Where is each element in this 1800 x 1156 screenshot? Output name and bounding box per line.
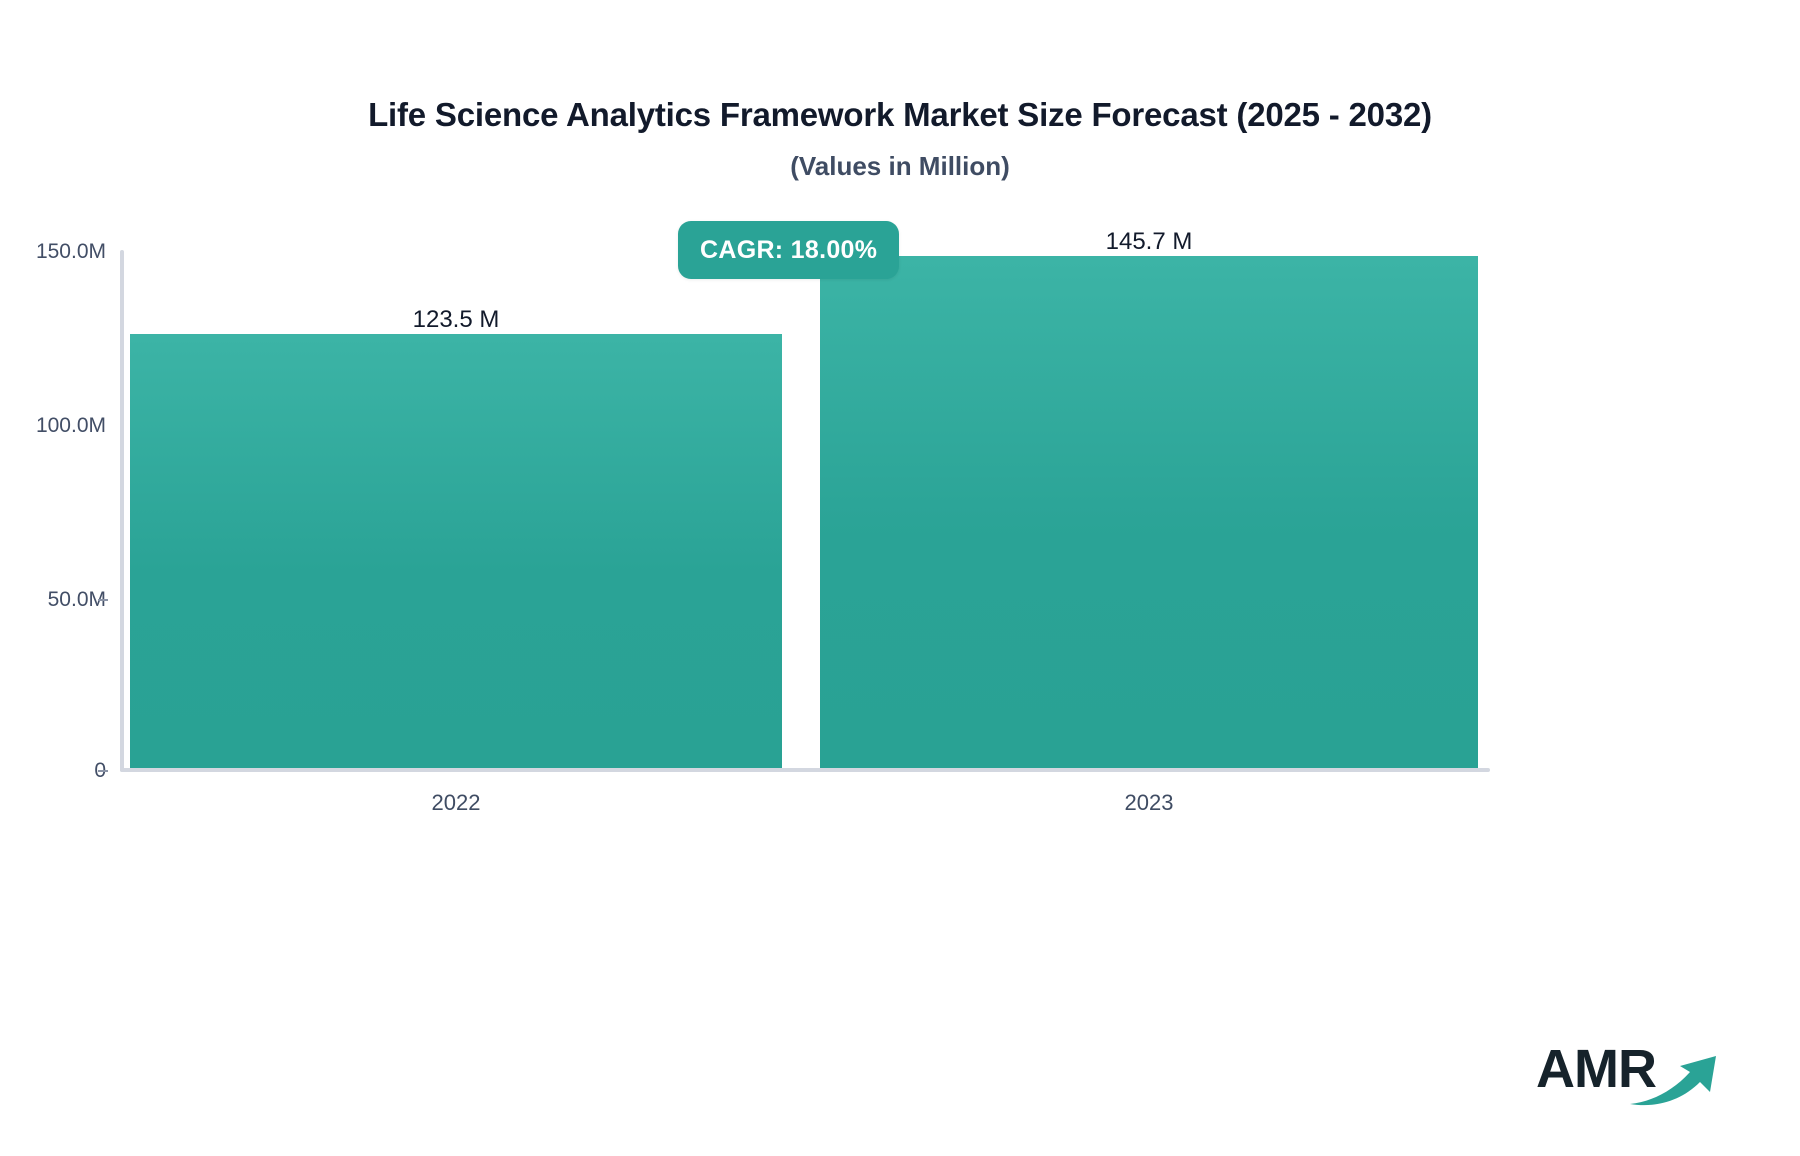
y-axis-line: [120, 250, 124, 772]
bar-value-label-2023: 145.7 M: [1106, 228, 1193, 256]
x-axis-line: [120, 768, 1490, 772]
bar-value-label-2022: 123.5 M: [413, 306, 500, 334]
chart-canvas: Life Science Analytics Framework Market …: [0, 0, 1800, 1156]
cagr-badge[interactable]: CAGR: 18.00%: [678, 221, 899, 279]
growth-arrow-icon: [1628, 1052, 1724, 1108]
y-tick-mark-0: [98, 770, 108, 772]
y-tick-label-150: 150.0M: [36, 240, 106, 264]
chart-title: Life Science Analytics Framework Market …: [0, 96, 1800, 135]
y-tick-mark-50: [98, 599, 108, 601]
bar-2022[interactable]: [130, 334, 782, 768]
bar-2023[interactable]: [820, 256, 1478, 768]
x-tick-label-2022: 2022: [432, 790, 481, 816]
y-tick-label-100: 100.0M: [36, 414, 106, 438]
chart-header: Life Science Analytics Framework Market …: [0, 96, 1800, 182]
plot-area: 123.5 M 2022 145.7 M 2023: [120, 250, 1490, 772]
amr-logo: AMR: [1536, 1040, 1726, 1112]
x-tick-label-2023: 2023: [1125, 790, 1174, 816]
chart-subtitle: (Values in Million): [0, 151, 1800, 182]
y-axis-labels: 150.0M 100.0M 50.0M 0: [0, 250, 106, 772]
